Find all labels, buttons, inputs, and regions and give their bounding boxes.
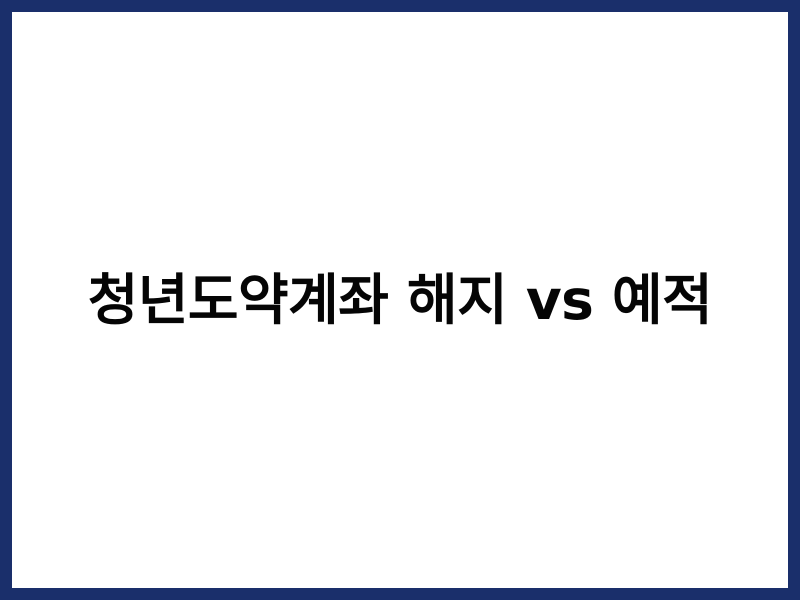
- title-card-content: 청년도약계좌 해지 vs 예적: [12, 12, 788, 588]
- page-title: 청년도약계좌 해지 vs 예적: [88, 268, 713, 333]
- title-card: 청년도약계좌 해지 vs 예적: [0, 0, 800, 600]
